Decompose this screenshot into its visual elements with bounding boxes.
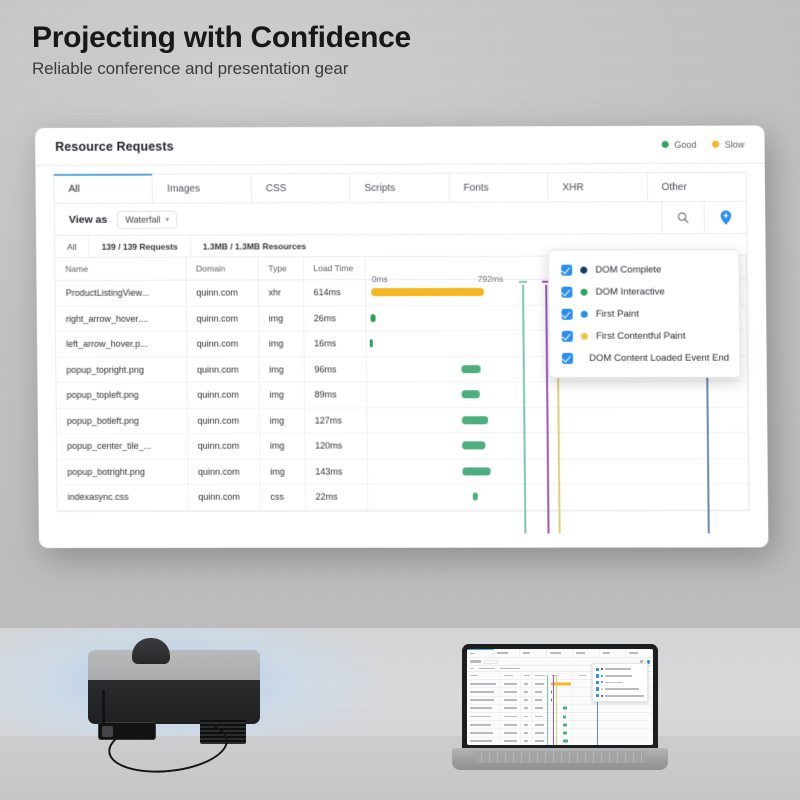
cell-type: img (258, 331, 303, 357)
cell-load-time: 614ms (303, 280, 365, 306)
popup-item-label: First Paint (596, 308, 639, 319)
mini-label (470, 653, 475, 655)
laptop-keyboard (474, 751, 646, 763)
cell-waterfall (366, 407, 747, 433)
search-icon (676, 211, 689, 224)
cell-name: popup_botright.png (57, 459, 187, 485)
mini-col-type (521, 672, 532, 679)
popup-item-first-paint[interactable]: First Paint (549, 302, 739, 325)
cell-domain: quinn.com (186, 305, 258, 331)
popup-item-label: DOM Content Loaded Event End (589, 352, 729, 363)
waterfall-bar (473, 493, 478, 501)
tab-label: XHR (562, 182, 583, 193)
mini-dom-interactive-line (547, 675, 548, 745)
cell-load-time: 120ms (304, 433, 366, 459)
checkbox-checked[interactable] (561, 308, 572, 319)
popup-item-first-contentful-paint[interactable]: First Contentful Paint (550, 324, 740, 346)
marker-filter-popup[interactable]: DOM Complete DOM Interactive First Paint… (548, 249, 741, 378)
mini-tab-images (494, 649, 521, 657)
view-as-value: Waterfall (125, 214, 160, 224)
cell-type: img (259, 433, 304, 459)
projected-screenshot: Resource Requests Good Slow All Images C… (35, 125, 768, 548)
popup-item-label: DOM Interactive (596, 286, 665, 297)
popup-item-label: DOM Complete (595, 264, 661, 275)
mini-popup-item (593, 673, 647, 680)
map-pin-add-icon (719, 210, 731, 225)
mini-tab-fonts (573, 649, 600, 657)
waterfall-bar (371, 314, 376, 322)
chevron-down-icon: ▾ (165, 215, 169, 223)
mini-popup-item (593, 666, 647, 673)
tab-css[interactable]: CSS (252, 173, 351, 203)
summary-requests: 139 / 139 Requests (90, 236, 191, 257)
mini-popup-item (593, 679, 647, 686)
hdmi-cable-segment (102, 690, 105, 726)
projector-cable-plug (102, 726, 113, 737)
cell-load-time: 26ms (303, 305, 365, 331)
mini-tab-scripts (547, 649, 574, 657)
tab-label: CSS (266, 183, 287, 194)
mini-table-row (467, 705, 653, 713)
mini-col-name (467, 672, 501, 679)
mini-label (629, 652, 638, 654)
popup-item-label: First Contentful Paint (596, 330, 686, 341)
table-row[interactable]: popup_botleft.png quinn.com img 127ms (57, 407, 748, 434)
mini-tabs (467, 649, 653, 658)
table-row[interactable]: indexasync.css quinn.com css 22ms (57, 484, 748, 510)
projector-lens (132, 638, 170, 664)
popup-item-dom-complete[interactable]: DOM Complete (549, 258, 739, 281)
cell-name: popup_topright.png (56, 357, 186, 383)
laptop-lid (462, 644, 658, 750)
legend: Good Slow (662, 139, 744, 149)
cell-domain: quinn.com (187, 459, 259, 485)
cell-type: img (258, 305, 303, 331)
cell-type: img (259, 408, 304, 434)
summary-scope: All (55, 236, 90, 257)
cell-load-time: 22ms (305, 484, 367, 510)
cell-name: right_arrow_hover.... (56, 306, 186, 332)
resource-requests-panel: Resource Requests Good Slow All Images C… (35, 125, 768, 548)
search-button[interactable] (661, 202, 704, 233)
mini-view-as-select (484, 660, 498, 664)
waterfall-bar (371, 288, 483, 296)
projector-body (88, 680, 260, 724)
cell-domain: quinn.com (188, 484, 260, 510)
mini-label (576, 652, 585, 654)
mini-tab-xhr (600, 649, 627, 657)
cell-domain: quinn.com (186, 280, 258, 306)
tab-label: Fonts (463, 182, 488, 193)
cell-waterfall (367, 432, 748, 458)
waterfall-bar (461, 365, 480, 373)
cell-waterfall (367, 484, 748, 510)
col-name[interactable]: Name (55, 258, 185, 281)
cell-domain: quinn.com (187, 382, 259, 408)
mini-label (523, 652, 530, 654)
cell-load-time: 16ms (303, 331, 365, 357)
mini-table-row (467, 738, 653, 746)
tab-images[interactable]: Images (153, 173, 252, 203)
cell-name: popup_topleft.png (56, 382, 186, 408)
marker-dot (580, 266, 587, 273)
cell-type: img (259, 382, 304, 408)
mini-label (603, 652, 610, 654)
cell-type: img (259, 459, 304, 485)
toolbar-buttons (661, 202, 746, 233)
summary-resources: 1.3MB / 1.3MB Resources (191, 235, 319, 256)
table-row[interactable]: popup_topleft.png quinn.com img 89ms (56, 381, 747, 408)
cell-name: left_arrow_hover.p... (56, 331, 186, 357)
marker-dot (581, 332, 588, 339)
panel-title: Resource Requests (55, 139, 174, 153)
tab-other[interactable]: Other (647, 172, 747, 202)
mini-tab-all (467, 649, 494, 657)
cell-waterfall (367, 458, 748, 484)
waterfall-bar (462, 416, 488, 424)
laptop-screen-ui (467, 649, 653, 745)
cell-domain: quinn.com (186, 357, 258, 383)
page-title: Projecting with Confidence (32, 20, 411, 55)
tab-label: Images (167, 183, 200, 194)
cell-name: popup_botleft.png (57, 408, 187, 434)
cell-load-time: 96ms (304, 356, 366, 382)
popup-item-dom-interactive[interactable]: DOM Interactive (549, 280, 739, 303)
page-subtitle: Reliable conference and presentation gea… (32, 59, 411, 79)
mini-popup-item (593, 692, 647, 699)
projector-top-shell (88, 650, 260, 684)
waterfall-bar (462, 442, 486, 450)
checkbox-checked[interactable] (561, 286, 572, 297)
cell-waterfall (366, 381, 747, 407)
mini-marker-popup (592, 663, 648, 702)
mini-label (497, 652, 508, 654)
checkbox-checked[interactable] (562, 352, 573, 363)
tab-all[interactable]: All (53, 174, 153, 204)
tab-scripts[interactable]: Scripts (350, 173, 449, 203)
checkbox-checked[interactable] (561, 264, 572, 275)
product-photo-band (0, 628, 800, 800)
popup-item-dom-content-loaded-event-end[interactable]: DOM Content Loaded Event End (550, 347, 740, 369)
table-row[interactable]: popup_center_tile_... quinn.com img 120m… (57, 432, 748, 459)
laptop (452, 644, 668, 776)
col-type[interactable]: Type (258, 257, 303, 280)
mini-summary-requests (479, 668, 495, 670)
cell-name: ProductListingView... (55, 280, 185, 306)
waterfall-bar (462, 467, 491, 475)
waterfall-bar (370, 340, 373, 348)
view-as-label: View as (69, 213, 107, 225)
mini-table-row (467, 713, 653, 721)
mini-summary-scope (470, 668, 474, 670)
mini-table-row (467, 729, 653, 737)
projector (88, 650, 260, 724)
waterfall-bar (462, 390, 480, 398)
panel-header: Resource Requests Good Slow (35, 125, 765, 166)
mini-view-as-label (470, 660, 481, 662)
legend-item-good: Good (662, 139, 696, 149)
view-toolbar: View as Waterfall ▾ (54, 202, 748, 236)
cell-domain: quinn.com (187, 408, 259, 434)
cell-domain: quinn.com (187, 433, 259, 459)
mini-summary-resources (500, 668, 520, 670)
cell-type: xhr (258, 280, 303, 306)
cell-load-time: 143ms (305, 459, 367, 485)
tab-fonts[interactable]: Fonts (449, 172, 548, 202)
col-load-time[interactable]: Load Time (303, 257, 365, 280)
cell-load-time: 127ms (304, 407, 366, 433)
mini-tab-other (626, 649, 653, 657)
mini-dom-content-loaded-line (553, 675, 554, 745)
checkbox-checked[interactable] (562, 330, 573, 341)
legend-dot-slow (713, 141, 720, 148)
mini-fcp-line (556, 675, 557, 745)
legend-label-good: Good (674, 139, 696, 149)
view-as-select[interactable]: Waterfall ▾ (117, 210, 177, 228)
tab-label: Scripts (364, 182, 395, 193)
cell-load-time: 89ms (304, 382, 366, 408)
mini-table-row (467, 721, 653, 729)
mini-tab-css (520, 649, 547, 657)
legend-item-slow: Slow (713, 139, 745, 149)
promo-scene: Projecting with Confidence Reliable conf… (0, 0, 800, 800)
tab-label: All (69, 184, 80, 195)
laptop-screen (467, 649, 653, 745)
tab-label: Other (662, 181, 687, 192)
cell-name: indexasync.css (57, 484, 187, 510)
marker-dot (581, 310, 588, 317)
tab-xhr[interactable]: XHR (548, 172, 647, 202)
cell-type: css (260, 484, 305, 510)
mini-label (550, 652, 561, 654)
cell-name: popup_center_tile_... (57, 433, 187, 459)
cell-type: img (258, 356, 303, 382)
headline-block: Projecting with Confidence Reliable conf… (32, 20, 411, 79)
filter-tabs[interactable]: All Images CSS Scripts Fonts XHR Other (35, 172, 765, 204)
mini-col-domain (501, 672, 521, 679)
legend-label-slow: Slow (725, 139, 745, 149)
mini-popup-item (593, 686, 647, 693)
marker-dot (580, 288, 587, 295)
legend-dot-good (662, 141, 669, 148)
col-domain[interactable]: Domain (185, 257, 257, 280)
table-row[interactable]: popup_botright.png quinn.com img 143ms (57, 458, 748, 484)
add-marker-button[interactable] (704, 202, 747, 233)
cell-domain: quinn.com (186, 331, 258, 357)
